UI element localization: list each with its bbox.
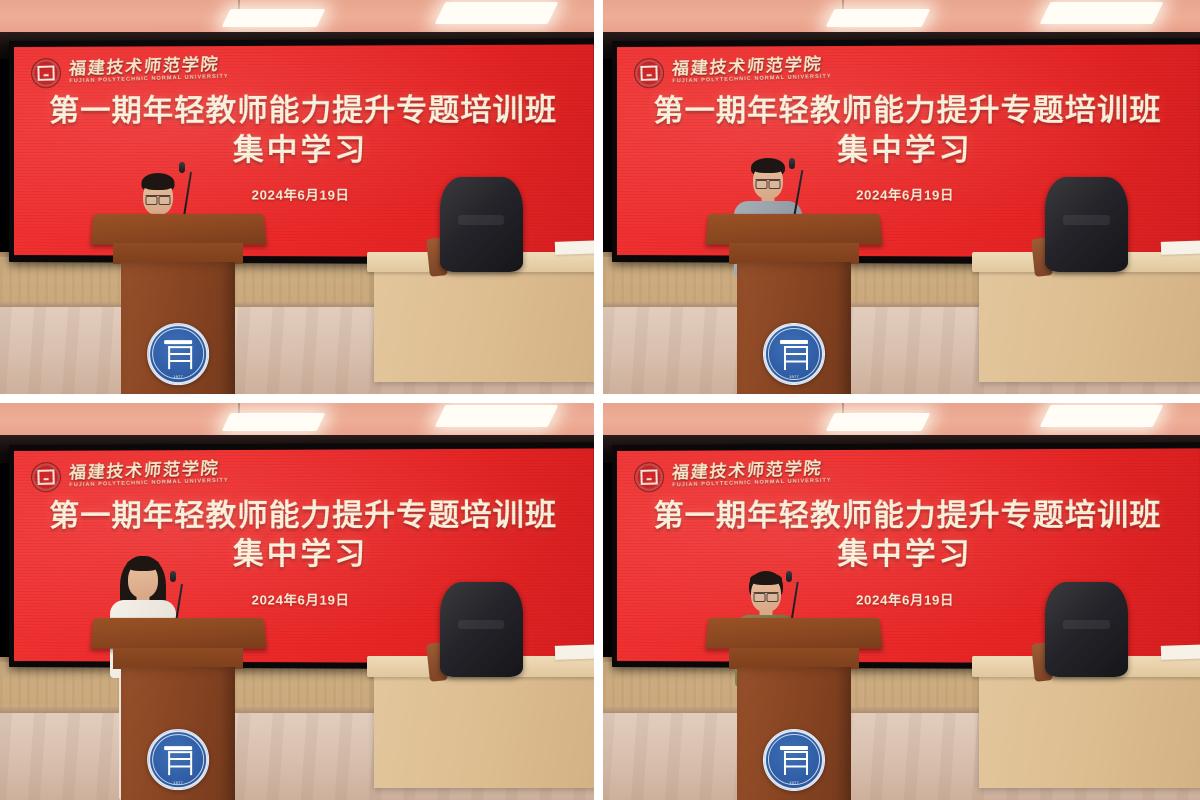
presider-desk [374,665,594,788]
emblem-gate-icon [780,746,808,774]
collage-panel-top-left[interactable]: 福建技术师范学院 FUJIAN POLYTECHNIC NORMAL UNIVE… [0,0,594,394]
chair-seam [458,620,505,630]
wooden-podium: 1977 [716,213,871,394]
collage-panel-top-right[interactable]: 福建技术师范学院 FUJIAN POLYTECHNIC NORMAL UNIVE… [603,0,1200,394]
wooden-podium: 1977 [101,213,255,394]
speaker-hair-top [750,573,782,585]
wooden-podium: 1977 [716,617,871,800]
banner-title-line1: 第一期年轻教师能力提升专题培训班 [31,498,576,534]
podium-neck [113,648,243,669]
university-seal-icon [31,461,62,492]
conference-hall-scene: 福建技术师范学院 FUJIAN POLYTECHNIC NORMAL UNIVE… [0,403,594,800]
speaker-hair-top [126,558,159,571]
chair-backrest [440,582,523,677]
banner-title-line1: 第一期年轻教师能力提升专题培训班 [31,94,576,130]
podium-body: 1977 [737,667,852,800]
podium-body: 1977 [737,262,852,394]
desk-papers [1160,644,1200,659]
executive-chair [440,177,523,272]
emblem-gate-icon [780,340,808,368]
chair-seam [1063,620,1110,630]
emblem-year: 1977 [789,780,799,785]
university-names: 福建技术师范学院 FUJIAN POLYTECHNIC NORMAL UNIVE… [69,55,229,85]
university-name-cn: 福建技术师范学院 [68,55,229,77]
speaker-glasses-icon [756,179,781,186]
banner-title-line2: 集中学习 [634,535,1182,573]
speaker-hair-top [752,161,784,173]
podium-neck [113,243,243,264]
ceiling-light-panel [434,2,558,24]
podium-emblem-icon: 1977 [147,729,209,791]
chair-backrest [1045,582,1129,677]
conference-hall-scene: 福建技术师范学院 FUJIAN POLYTECHNIC NORMAL UNIVE… [0,0,594,394]
podium-body: 1977 [121,667,235,800]
presider-desk [979,260,1200,382]
university-header: 福建技术师范学院 FUJIAN POLYTECHNIC NORMAL UNIVE… [31,456,229,492]
ceiling-light-panel [825,413,929,431]
presider-desk [979,665,1200,788]
university-name-cn: 福建技术师范学院 [68,459,229,481]
speaker-glasses-icon [145,195,170,202]
executive-chair [440,582,523,677]
conference-hall-scene: 福建技术师范学院 FUJIAN POLYTECHNIC NORMAL UNIVE… [603,0,1200,394]
podium-neck [729,648,859,669]
microphone-head [789,158,795,169]
podium-top [90,618,266,649]
photo-collage: 福建技术师范学院 FUJIAN POLYTECHNIC NORMAL UNIVE… [0,0,1200,800]
chair-seam [458,215,505,224]
emblem-year: 1977 [789,374,799,379]
wooden-podium: 1977 [101,617,255,800]
university-header: 福建技术师范学院 FUJIAN POLYTECHNIC NORMAL UNIVE… [634,456,832,492]
microphone-head [786,571,792,582]
university-name-cn: 福建技术师范学院 [671,459,832,481]
conference-hall-scene: 福建技术师范学院 FUJIAN POLYTECHNIC NORMAL UNIVE… [603,403,1200,800]
podium-emblem-icon: 1977 [763,323,825,385]
ceiling-light-panel [1039,2,1163,24]
university-names: 福建技术师范学院 FUJIAN POLYTECHNIC NORMAL UNIVE… [672,459,832,489]
banner-title-line1: 第一期年轻教师能力提升专题培训班 [634,94,1182,130]
executive-chair [1045,177,1129,272]
university-seal-icon [31,58,62,89]
podium-top [90,214,266,245]
chair-backrest [1045,177,1129,272]
university-name-cn: 福建技术师范学院 [671,55,832,77]
university-names: 福建技术师范学院 FUJIAN POLYTECHNIC NORMAL UNIVE… [672,55,832,85]
emblem-year: 1977 [173,374,183,379]
desk-papers [555,644,594,659]
ceiling-light-panel [434,405,558,427]
podium-neck [729,243,859,264]
microphone-head [170,571,176,582]
university-seal-icon [634,58,665,89]
podium-emblem-icon: 1977 [147,323,209,385]
executive-chair [1045,582,1129,677]
collage-panel-bottom-right[interactable]: 福建技术师范学院 FUJIAN POLYTECHNIC NORMAL UNIVE… [603,403,1200,800]
university-seal-icon [634,461,665,492]
ceiling-light-panel [221,413,325,431]
university-header: 福建技术师范学院 FUJIAN POLYTECHNIC NORMAL UNIVE… [634,52,832,88]
banner-title-line2: 集中学习 [634,132,1182,170]
banner-title-line1: 第一期年轻教师能力提升专题培训班 [634,498,1182,534]
desk-papers [1160,240,1200,255]
speaker-hair-top [142,177,173,190]
university-header: 福建技术师范学院 FUJIAN POLYTECHNIC NORMAL UNIVE… [31,52,229,88]
speaker-glasses-icon [754,592,779,599]
ceiling-light-panel [1039,405,1163,427]
chair-seam [1063,215,1110,224]
presider-desk [374,260,594,382]
emblem-gate-icon [164,746,191,773]
emblem-year: 1977 [173,780,183,785]
ceiling-light-panel [825,9,929,27]
podium-emblem-icon: 1977 [763,729,825,791]
university-names: 福建技术师范学院 FUJIAN POLYTECHNIC NORMAL UNIVE… [69,459,229,489]
chair-backrest [440,177,523,272]
banner-title-line2: 集中学习 [31,132,576,170]
podium-top [706,214,883,245]
desk-papers [555,240,594,255]
light-stalk [842,403,844,413]
ceiling-light-panel [221,9,325,27]
podium-body: 1977 [121,262,235,394]
emblem-gate-icon [164,340,191,367]
podium-top [706,618,883,649]
light-stalk [238,403,240,413]
collage-panel-bottom-left[interactable]: 福建技术师范学院 FUJIAN POLYTECHNIC NORMAL UNIVE… [0,403,594,800]
